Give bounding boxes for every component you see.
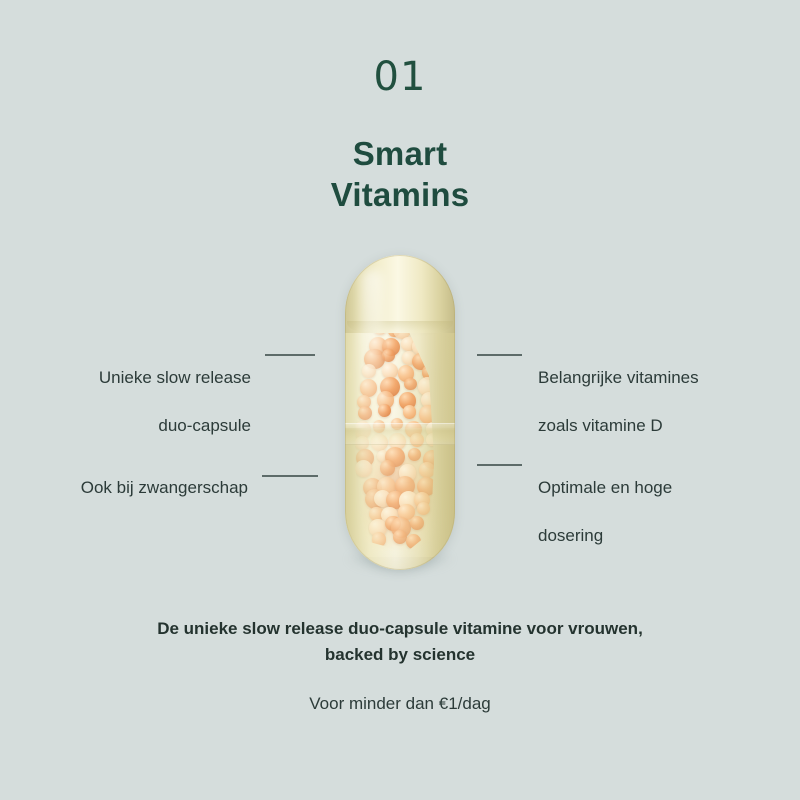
callout-text-line-2: duo-capsule xyxy=(158,416,251,435)
callout-optimale-dosering: Optimale en hoge dosering xyxy=(477,452,767,548)
callout-unieke-slow-release: Unieke slow release duo-capsule xyxy=(40,342,315,438)
callout-text-line-1: Ook bij zwangerschap xyxy=(81,478,248,497)
capsule-rim xyxy=(345,255,455,570)
callout-text-line-1: Belangrijke vitamines xyxy=(538,368,699,387)
page-title-line-2: Vitamins xyxy=(0,174,800,215)
callout-text-line-1: Optimale en hoge xyxy=(538,478,672,497)
product-image xyxy=(337,250,463,580)
page-title-line-1: Smart xyxy=(0,133,800,174)
callout-connector-line xyxy=(477,464,522,466)
callout-optimale-dosering-text: Optimale en hoge dosering xyxy=(538,452,672,548)
tagline: De unieke slow release duo-capsule vitam… xyxy=(100,616,700,668)
callout-zwangerschap: Ook bij zwangerschap xyxy=(40,452,318,500)
callout-unieke-slow-release-text: Unieke slow release duo-capsule xyxy=(99,342,251,438)
callout-text-line-1: Unieke slow release xyxy=(99,368,251,387)
infographic-canvas: 01 Smart Vitamins Unieke slow release du… xyxy=(0,0,800,800)
callout-text-line-2: zoals vitamine D xyxy=(538,416,663,435)
tagline-line-2: backed by science xyxy=(100,642,700,668)
callout-connector-line xyxy=(262,475,318,477)
price-note: Voor minder dan €1/dag xyxy=(100,692,700,716)
callout-connector-line xyxy=(265,354,315,356)
callout-belangrijke-vitamines: Belangrijke vitamines zoals vitamine D xyxy=(477,342,767,438)
capsule-body xyxy=(345,255,455,570)
callout-belangrijke-vitamines-text: Belangrijke vitamines zoals vitamine D xyxy=(538,342,699,438)
tagline-line-1: De unieke slow release duo-capsule vitam… xyxy=(100,616,700,642)
page-title: Smart Vitamins xyxy=(0,133,800,215)
callout-connector-line xyxy=(477,354,522,356)
callout-text-line-2: dosering xyxy=(538,526,603,545)
callout-zwangerschap-text: Ook bij zwangerschap xyxy=(81,452,248,500)
section-number: 01 xyxy=(0,57,800,97)
